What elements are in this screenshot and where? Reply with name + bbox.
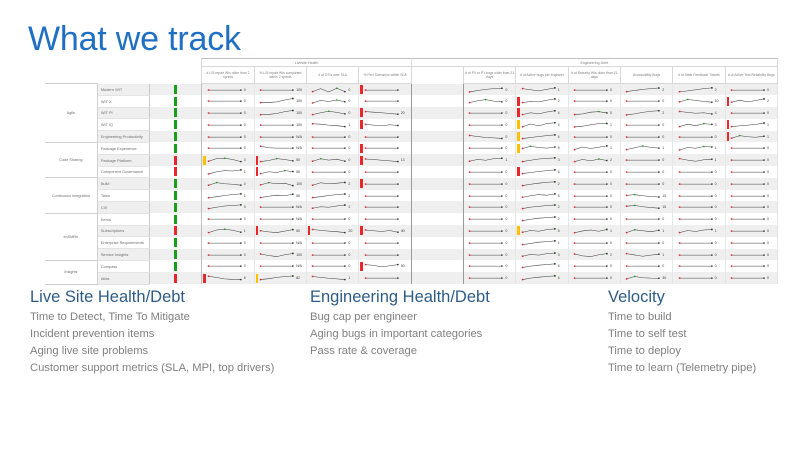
sparkline bbox=[573, 155, 608, 165]
metric-flag bbox=[622, 238, 624, 247]
metric-cell: 1 bbox=[673, 142, 725, 154]
section-line: Aging live site problems bbox=[30, 344, 300, 360]
metric-value: 0 bbox=[243, 264, 253, 268]
sparkline bbox=[364, 226, 399, 236]
metric-value: 0 bbox=[348, 135, 358, 139]
sparkline bbox=[625, 250, 660, 260]
sparkline bbox=[573, 108, 608, 118]
metric-cell: 0 bbox=[673, 272, 725, 284]
metric-flag bbox=[465, 108, 467, 117]
metric-value: N/A bbox=[296, 205, 306, 209]
table-row: CIX0N/A20201500 bbox=[45, 201, 778, 213]
sparkline bbox=[625, 143, 660, 153]
metric-cell: 0 bbox=[673, 166, 725, 178]
section-line: Time to build bbox=[608, 310, 798, 326]
metric-flag bbox=[360, 179, 362, 188]
sparkline bbox=[311, 273, 346, 283]
metric-flag bbox=[674, 156, 676, 165]
metric-flag bbox=[308, 156, 310, 165]
column-header: # of Stale Feedback Tickets bbox=[673, 67, 725, 84]
metric-cell: 2 bbox=[307, 201, 359, 213]
metric-cell: 0 bbox=[568, 190, 620, 202]
metric-value: 100 bbox=[296, 253, 306, 257]
sparkline bbox=[364, 273, 399, 283]
sparkline bbox=[678, 273, 713, 283]
metric-value: 0 bbox=[662, 123, 672, 127]
metric-value: 100 bbox=[296, 123, 306, 127]
sparkline bbox=[625, 120, 660, 130]
metric-cell: 100 bbox=[254, 178, 306, 190]
column-header: % LSI repair WIs completed within 2 spri… bbox=[254, 67, 306, 84]
metric-flag bbox=[570, 85, 572, 94]
sparkline bbox=[678, 143, 713, 153]
metric-value: 0 bbox=[767, 264, 777, 268]
metric-cell: 0 bbox=[307, 249, 359, 261]
sparkline bbox=[207, 143, 242, 153]
metric-value: 0 bbox=[714, 135, 724, 139]
metric-cell: 100 bbox=[254, 84, 306, 96]
metric-value: 4 bbox=[557, 135, 567, 139]
metric-cell: N/A bbox=[254, 201, 306, 213]
sparkline bbox=[207, 155, 242, 165]
metric-cell: 13 bbox=[359, 154, 411, 166]
metric-flag bbox=[622, 156, 624, 165]
metric-value: 0 bbox=[767, 146, 777, 150]
metric-cell: 0 bbox=[673, 190, 725, 202]
sparkline bbox=[625, 108, 660, 118]
metric-flag bbox=[674, 203, 676, 212]
metric-flag bbox=[517, 144, 519, 153]
metric-flag bbox=[674, 238, 676, 247]
metric-value: 2 bbox=[557, 217, 567, 221]
sparkline bbox=[730, 191, 766, 201]
sparkline bbox=[311, 167, 346, 177]
metric-flag bbox=[308, 274, 310, 283]
sparkline bbox=[625, 226, 660, 236]
section-line: Time to deploy bbox=[608, 344, 798, 360]
header-spacer bbox=[45, 67, 97, 84]
sparkline bbox=[311, 250, 346, 260]
metric-flag bbox=[308, 132, 310, 141]
metric-flag bbox=[360, 274, 362, 283]
metric-value: 100 bbox=[296, 99, 306, 103]
metric-flag bbox=[308, 85, 310, 94]
metric-flag bbox=[203, 274, 205, 283]
metric-flag bbox=[622, 274, 624, 283]
metric-flag bbox=[308, 167, 310, 176]
sparkline bbox=[573, 96, 608, 106]
sparkline bbox=[468, 85, 503, 95]
sparkline bbox=[207, 179, 242, 189]
metric-flag bbox=[256, 274, 258, 283]
metric-value: 0 bbox=[662, 135, 672, 139]
metric-flag bbox=[203, 167, 205, 176]
section-engineering: Engineering Health/Debt Bug cap per engi… bbox=[310, 288, 600, 361]
metric-value: N/A bbox=[296, 146, 306, 150]
metric-cell: 100 bbox=[254, 95, 306, 107]
metric-value: 4 bbox=[557, 276, 567, 280]
metric-flag bbox=[465, 167, 467, 176]
metric-cell: 50 bbox=[254, 225, 306, 237]
sparkline bbox=[468, 167, 503, 177]
sparkline bbox=[730, 120, 766, 130]
metric-value: 0 bbox=[243, 217, 253, 221]
metric-value: 1 bbox=[243, 229, 253, 233]
sparkline bbox=[311, 120, 346, 130]
metric-cell: 2 bbox=[568, 249, 620, 261]
metric-value: 0 bbox=[505, 111, 515, 115]
metric-value: 0 bbox=[714, 205, 724, 209]
metric-flag bbox=[465, 132, 467, 141]
metric-value: 0 bbox=[505, 123, 515, 127]
metric-flag bbox=[203, 226, 205, 235]
table-row: Code SharingPackage Experience0N/A005111… bbox=[45, 142, 778, 154]
metric-cell: 0 bbox=[202, 249, 254, 261]
metric-flag bbox=[622, 85, 624, 94]
metric-flag bbox=[465, 238, 467, 247]
sparkline bbox=[259, 191, 294, 201]
metric-flag bbox=[622, 191, 624, 200]
sparkline bbox=[573, 261, 608, 271]
metric-value: 0 bbox=[348, 146, 358, 150]
metric-flag bbox=[360, 250, 362, 259]
metric-value: 0 bbox=[609, 276, 619, 280]
metric-flag bbox=[674, 262, 676, 271]
metric-cell: 40 bbox=[359, 225, 411, 237]
page-title: What we track bbox=[28, 22, 241, 56]
sparkline bbox=[259, 85, 294, 95]
metric-cell: 0 bbox=[307, 142, 359, 154]
metric-cell: 0 bbox=[725, 272, 777, 284]
metric-cell: 0 bbox=[673, 178, 725, 190]
sparkline bbox=[573, 179, 608, 189]
metric-cell: 3 bbox=[516, 249, 568, 261]
metric-value: 4 bbox=[557, 123, 567, 127]
sparkline bbox=[521, 214, 556, 224]
sparkline bbox=[364, 143, 399, 153]
sparkline bbox=[468, 108, 503, 118]
sparkline bbox=[730, 143, 766, 153]
table-row: Continuous IntegrationBuild01002020000 bbox=[45, 178, 778, 190]
sparkline bbox=[468, 155, 503, 165]
team-name: Package Platform bbox=[97, 154, 149, 166]
metric-flag bbox=[517, 238, 519, 247]
metric-cell: 0 bbox=[568, 131, 620, 143]
metric-value: 2 bbox=[609, 253, 619, 257]
metric-cell: 0 bbox=[725, 213, 777, 225]
group-label-insights: Insights bbox=[45, 260, 97, 284]
metric-value: 82 bbox=[296, 276, 306, 280]
metric-flag bbox=[465, 179, 467, 188]
sparkline bbox=[259, 108, 294, 118]
metric-flag bbox=[674, 274, 676, 283]
metric-cell: 0 bbox=[568, 272, 620, 284]
metric-flag bbox=[727, 167, 729, 176]
metric-flag bbox=[256, 238, 258, 247]
metric-cell: 15 bbox=[620, 201, 672, 213]
metric-value: 0 bbox=[348, 253, 358, 257]
sparkline bbox=[730, 273, 766, 283]
sparkline bbox=[259, 96, 294, 106]
sparkline bbox=[468, 191, 503, 201]
metric-cell: 20 bbox=[307, 225, 359, 237]
table-row: WIT X010000200102 bbox=[45, 95, 778, 107]
metric-value: 0 bbox=[243, 111, 253, 115]
metric-value: 0 bbox=[505, 135, 515, 139]
metric-flag bbox=[360, 97, 362, 106]
sparkline bbox=[259, 238, 294, 248]
metric-cell: 0 bbox=[620, 119, 672, 131]
metric-flag bbox=[622, 250, 624, 259]
section-line: Aging bugs in important categories bbox=[310, 327, 600, 343]
metric-flag bbox=[203, 262, 205, 271]
metric-flag bbox=[674, 191, 676, 200]
column-header: Accessibility Bugs bbox=[620, 67, 672, 84]
metric-flag bbox=[622, 120, 624, 129]
metric-flag bbox=[570, 167, 572, 176]
metric-flag bbox=[465, 144, 467, 153]
metric-flag bbox=[256, 85, 258, 94]
column-header: # of Security WIs older than 21 days bbox=[568, 67, 620, 84]
metric-flag bbox=[674, 215, 676, 224]
metric-cell: 0 bbox=[620, 237, 672, 249]
metric-cell: 0 bbox=[464, 201, 516, 213]
metric-flag bbox=[727, 108, 729, 117]
sparkline bbox=[625, 155, 660, 165]
team-name: Engineering Productivity bbox=[97, 131, 149, 143]
metric-flag bbox=[517, 262, 519, 271]
table-row: InsightsCompass0N/A050060000 bbox=[45, 260, 778, 272]
metric-value: 0 bbox=[609, 194, 619, 198]
team-name: Keros bbox=[97, 213, 149, 225]
metric-value: 0 bbox=[348, 170, 358, 174]
metric-value: 0 bbox=[505, 205, 515, 209]
status-badge bbox=[150, 249, 202, 261]
metric-value: 0 bbox=[348, 217, 358, 221]
metric-cell: 4 bbox=[516, 119, 568, 131]
metric-flag bbox=[256, 120, 258, 129]
column-header: # LSI repair WIs older than 2 sprints bbox=[202, 67, 254, 84]
metric-cell bbox=[359, 190, 411, 202]
metric-flag bbox=[360, 215, 362, 224]
metric-flag bbox=[727, 250, 729, 259]
metric-flag bbox=[308, 97, 310, 106]
metric-cell: 30 bbox=[620, 272, 672, 284]
status-badge bbox=[150, 225, 202, 237]
sparkline bbox=[678, 226, 713, 236]
metric-value: 50 bbox=[296, 194, 306, 198]
sparkline bbox=[573, 191, 608, 201]
metric-value: 0 bbox=[662, 158, 672, 162]
sparkline bbox=[678, 167, 713, 177]
metric-cell: 0 bbox=[725, 166, 777, 178]
sparkline bbox=[468, 120, 503, 130]
section-divider bbox=[411, 119, 463, 131]
metric-value: N/A bbox=[296, 241, 306, 245]
metric-flag bbox=[570, 97, 572, 106]
metric-flag bbox=[727, 215, 729, 224]
metric-flag bbox=[674, 250, 676, 259]
metric-cell: 0 bbox=[568, 260, 620, 272]
team-name: Atlas bbox=[97, 272, 149, 284]
metric-cell: 0 bbox=[202, 237, 254, 249]
metric-cell: 0 bbox=[725, 201, 777, 213]
metric-cell: 0 bbox=[202, 142, 254, 154]
sparkline bbox=[207, 273, 242, 283]
metric-cell: 4 bbox=[516, 272, 568, 284]
metric-cell: 0 bbox=[202, 178, 254, 190]
sparkline bbox=[207, 85, 242, 95]
metric-flag bbox=[203, 120, 205, 129]
metric-flag bbox=[727, 97, 729, 106]
metric-value: 0 bbox=[348, 158, 358, 162]
table-row: WIT IQ01001041031 bbox=[45, 119, 778, 131]
metric-cell: 100 bbox=[254, 119, 306, 131]
metric-value: 1 bbox=[557, 88, 567, 92]
metric-value: 0 bbox=[662, 182, 672, 186]
metric-flag bbox=[203, 156, 205, 165]
sparkline bbox=[468, 226, 503, 236]
table-row: Engineering Productivity0N/A0040001 bbox=[45, 131, 778, 143]
metric-cell: 0 bbox=[307, 166, 359, 178]
metric-value: N/A bbox=[296, 217, 306, 221]
metric-cell: 0 bbox=[202, 119, 254, 131]
metric-value: 0 bbox=[767, 170, 777, 174]
metric-flag bbox=[570, 132, 572, 141]
metric-cell: 0 bbox=[464, 249, 516, 261]
header-spacer bbox=[150, 59, 202, 67]
sparkline bbox=[207, 214, 242, 224]
metric-flag bbox=[622, 262, 624, 271]
metric-flag bbox=[360, 85, 362, 94]
metric-flag bbox=[727, 203, 729, 212]
sparkline bbox=[364, 261, 399, 271]
metric-value: 0 bbox=[609, 182, 619, 186]
metric-flag bbox=[465, 215, 467, 224]
status-badge bbox=[150, 166, 202, 178]
sparkline bbox=[573, 132, 608, 142]
sparkline bbox=[311, 155, 346, 165]
metric-value: 1 bbox=[609, 229, 619, 233]
metric-flag bbox=[308, 262, 310, 271]
section-divider bbox=[411, 84, 463, 96]
metric-cell: 0 bbox=[725, 107, 777, 119]
sparkline bbox=[311, 132, 346, 142]
metric-cell: 0 bbox=[725, 178, 777, 190]
metric-cell: N/A bbox=[254, 142, 306, 154]
section-divider bbox=[411, 225, 463, 237]
sparkline bbox=[259, 143, 294, 153]
metric-cell: 100 bbox=[254, 107, 306, 119]
metric-flag bbox=[308, 238, 310, 247]
metric-cell: 4 bbox=[516, 131, 568, 143]
section-divider bbox=[411, 237, 463, 249]
group-header-livesite-health: Livesite Health bbox=[202, 59, 411, 67]
metric-value: 0 bbox=[609, 217, 619, 221]
metric-value: 3 bbox=[243, 158, 253, 162]
metric-flag bbox=[308, 191, 310, 200]
sparkline bbox=[311, 261, 346, 271]
sparkline bbox=[364, 132, 399, 142]
metric-value: 0 bbox=[767, 111, 777, 115]
table-row: Enterprise Requirements0N/A0010000 bbox=[45, 237, 778, 249]
metric-flag bbox=[570, 238, 572, 247]
metric-value: 15 bbox=[662, 205, 672, 209]
sparkline bbox=[207, 226, 242, 236]
sparkline bbox=[678, 132, 713, 142]
group-header-row: Livesite HealthEngineering Debt bbox=[45, 59, 778, 67]
sparkline bbox=[678, 85, 713, 95]
metric-cell: 0 bbox=[464, 95, 516, 107]
metric-flag bbox=[570, 250, 572, 259]
metric-cell: 0 bbox=[673, 213, 725, 225]
section-divider bbox=[411, 201, 463, 213]
table-row: Component Governance1500060000 bbox=[45, 166, 778, 178]
sparkline bbox=[625, 273, 660, 283]
section-heading: Velocity bbox=[608, 288, 798, 306]
metric-flag bbox=[727, 226, 729, 235]
metric-flag bbox=[674, 179, 676, 188]
sparkline bbox=[311, 202, 346, 212]
sparkline bbox=[207, 167, 242, 177]
metric-value: 1 bbox=[243, 170, 253, 174]
metric-value: 1 bbox=[348, 123, 358, 127]
metric-cell: 1 bbox=[307, 119, 359, 131]
section-line: Pass rate & coverage bbox=[310, 344, 600, 360]
status-badge bbox=[150, 178, 202, 190]
metric-flag bbox=[674, 120, 676, 129]
metric-cell: 2 bbox=[620, 107, 672, 119]
metric-value: 1 bbox=[662, 253, 672, 257]
sparkline bbox=[311, 96, 346, 106]
metric-cell bbox=[359, 213, 411, 225]
metric-flag bbox=[203, 191, 205, 200]
metric-value: 0 bbox=[243, 182, 253, 186]
metric-flag bbox=[517, 167, 519, 176]
metric-flag bbox=[674, 144, 676, 153]
metric-flag bbox=[622, 203, 624, 212]
metric-cell: 1 bbox=[620, 142, 672, 154]
metric-flag bbox=[727, 120, 729, 129]
sparkline bbox=[573, 85, 608, 95]
sparkline bbox=[678, 261, 713, 271]
header-spacer bbox=[45, 59, 97, 67]
sparkline bbox=[625, 167, 660, 177]
metric-value: 2 bbox=[557, 99, 567, 103]
metric-value: 1 bbox=[767, 123, 777, 127]
sparkline bbox=[678, 179, 713, 189]
metric-cell: 15 bbox=[620, 190, 672, 202]
metric-flag bbox=[203, 215, 205, 224]
metric-flag bbox=[570, 203, 572, 212]
column-header: # of Active Test Reliability Bugs bbox=[725, 67, 777, 84]
status-badge bbox=[150, 142, 202, 154]
metric-value: 40 bbox=[400, 229, 410, 233]
sparkline bbox=[521, 273, 556, 283]
team-name: WIT PI bbox=[97, 107, 149, 119]
metric-cell: 6 bbox=[516, 260, 568, 272]
metric-value: 0 bbox=[609, 135, 619, 139]
metric-cell bbox=[359, 166, 411, 178]
metric-flag bbox=[360, 120, 362, 129]
metric-cell: 0 bbox=[307, 154, 359, 166]
team-name: Compass bbox=[97, 260, 149, 272]
metric-value: 1 bbox=[662, 146, 672, 150]
metric-value: 0 bbox=[714, 241, 724, 245]
sparkline bbox=[311, 214, 346, 224]
metric-flag bbox=[465, 262, 467, 271]
section-line: Time to learn (Telemetry pipe) bbox=[608, 361, 798, 377]
